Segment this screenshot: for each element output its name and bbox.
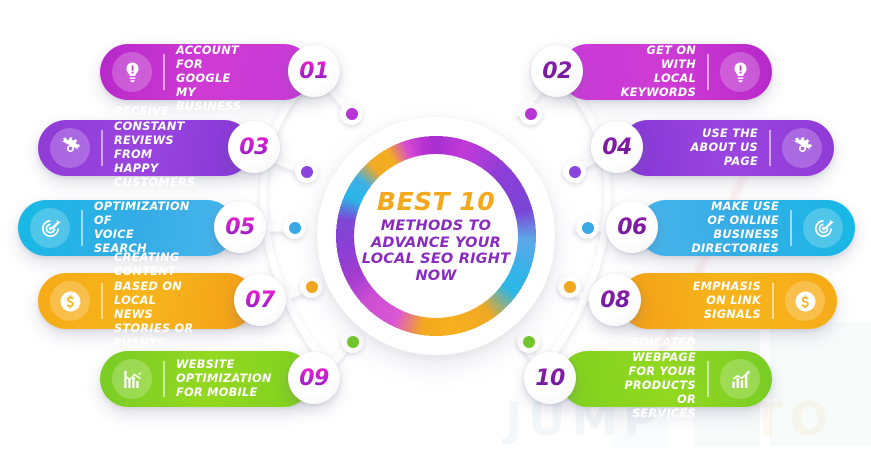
step-number: 04: [602, 135, 632, 160]
step-pill-02[interactable]: GET ON WITH LOCAL KEYWORDS: [560, 44, 772, 100]
trend-up-icon: [720, 359, 760, 399]
step-number-badge-09[interactable]: 09: [288, 352, 340, 404]
divider: [707, 54, 709, 90]
dot-fill: [346, 108, 358, 120]
step-number: 03: [239, 135, 269, 160]
list-item[interactable]: USE THE ABOUT US PAGE04: [0, 119, 871, 177]
dot-fill: [525, 108, 537, 120]
step-number-badge-08[interactable]: 08: [589, 274, 641, 326]
step-pill-08[interactable]: EMPHASIS ON LINK SIGNALS: [620, 273, 837, 329]
step-number: 09: [299, 366, 329, 391]
step-number: 05: [225, 215, 255, 240]
target-icon: [803, 208, 843, 248]
step-pill-10[interactable]: DEDICATED WEBPAGE FOR YOUR PRODUCTS OR S…: [560, 351, 772, 407]
divider: [707, 361, 709, 397]
step-number-badge-06[interactable]: 06: [606, 201, 658, 253]
step-number: 01: [299, 59, 329, 84]
step-label-02: GET ON WITH LOCAL KEYWORDS: [616, 44, 696, 101]
divider: [790, 210, 792, 246]
step-label-08: EMPHASIS ON LINK SIGNALS: [676, 280, 761, 323]
step-label-04: USE THE ABOUT US PAGE: [676, 127, 758, 170]
step-number: 08: [600, 288, 630, 313]
step-number-badge-04[interactable]: 04: [591, 121, 643, 173]
step-number: 10: [535, 366, 565, 391]
step-number-badge-02[interactable]: 02: [531, 45, 583, 97]
gear-icon: [782, 128, 822, 168]
lightbulb-icon: [720, 52, 760, 92]
step-number-badge-10[interactable]: 10: [524, 352, 576, 404]
list-item[interactable]: EMPHASIS ON LINK SIGNALS08: [0, 272, 871, 330]
step-label-10: DEDICATED WEBPAGE FOR YOUR PRODUCTS OR S…: [616, 336, 696, 421]
step-number-badge-03[interactable]: 03: [228, 121, 280, 173]
step-number: 06: [617, 215, 647, 240]
step-number-badge-05[interactable]: 05: [214, 201, 266, 253]
step-number-badge-01[interactable]: 01: [288, 45, 340, 97]
list-item[interactable]: DEDICATED WEBPAGE FOR YOUR PRODUCTS OR S…: [0, 350, 871, 408]
infographic-canvas: JUMP TO: [0, 0, 871, 452]
step-number: 02: [542, 59, 572, 84]
divider: [769, 130, 771, 166]
dollar-icon: [785, 281, 825, 321]
list-item[interactable]: MAKE USE OF ONLINE BUSINESS DIRECTORIES0…: [0, 199, 871, 257]
divider: [772, 283, 774, 319]
step-number: 07: [245, 288, 275, 313]
step-pill-04[interactable]: USE THE ABOUT US PAGE: [620, 120, 834, 176]
step-pill-06[interactable]: MAKE USE OF ONLINE BUSINESS DIRECTORIES: [638, 200, 855, 256]
step-number-badge-07[interactable]: 07: [234, 274, 286, 326]
list-item[interactable]: GET ON WITH LOCAL KEYWORDS02: [0, 43, 871, 101]
step-label-06: MAKE USE OF ONLINE BUSINESS DIRECTORIES: [691, 200, 779, 257]
